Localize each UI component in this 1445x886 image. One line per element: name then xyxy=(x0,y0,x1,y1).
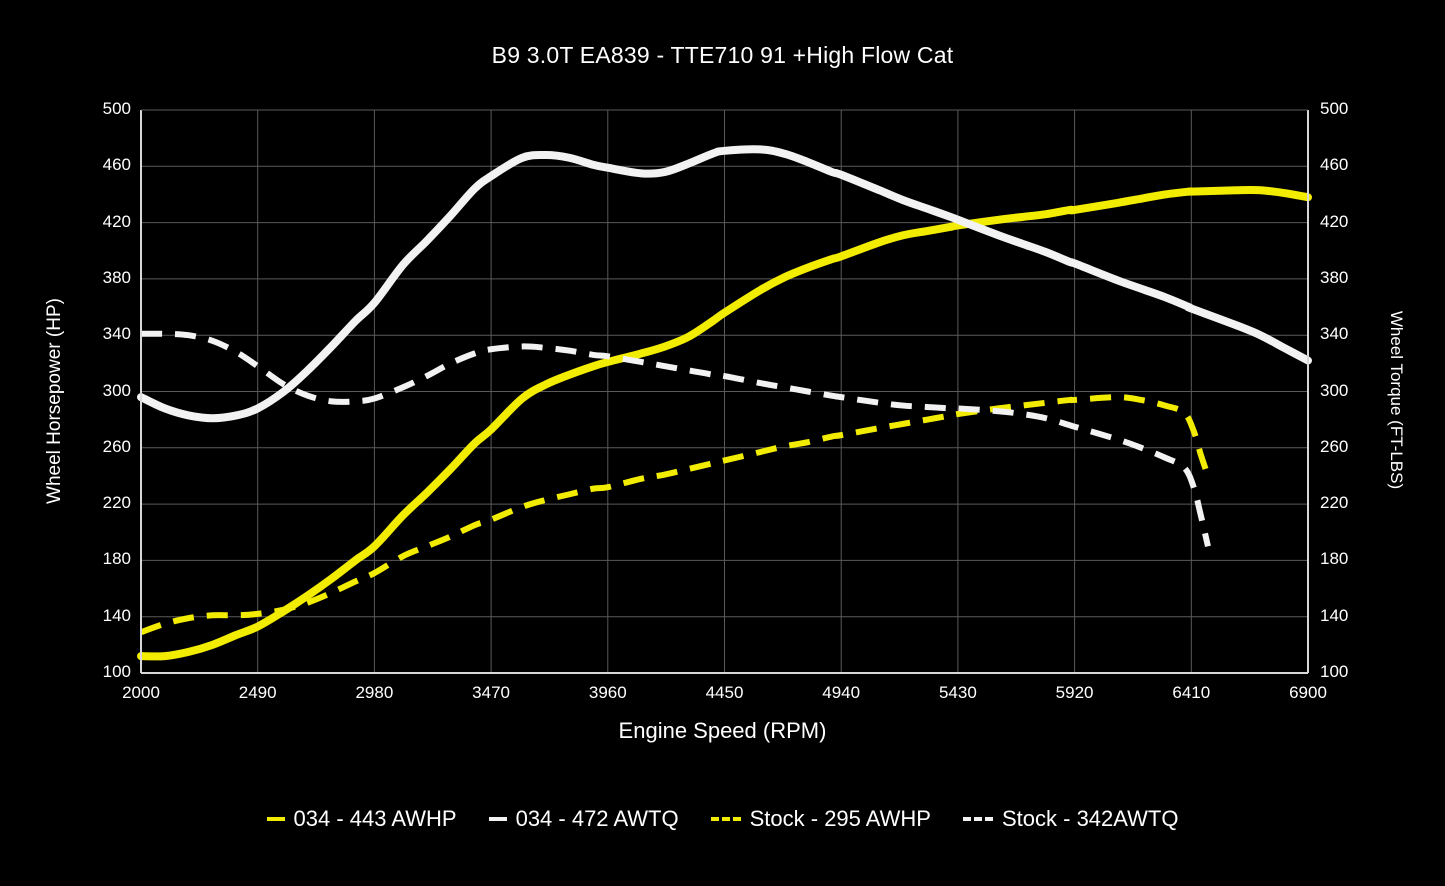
x-axis-tick-label: 6900 xyxy=(1263,683,1353,703)
legend-item-label: 034 - 443 AWHP xyxy=(294,806,457,832)
y-axis-left-tick-label: 500 xyxy=(67,99,131,119)
legend-line-swatch-icon xyxy=(963,817,993,821)
y-axis-left-tick-label: 140 xyxy=(67,606,131,626)
y-axis-left-tick-label: 180 xyxy=(67,549,131,569)
y-axis-right-tick-label: 300 xyxy=(1320,381,1384,401)
y-axis-right-tick-label: 140 xyxy=(1320,606,1384,626)
x-axis-tick-label: 5430 xyxy=(913,683,1003,703)
legend-line-swatch-icon xyxy=(711,817,741,821)
x-axis-tick-label: 3470 xyxy=(446,683,536,703)
x-axis-tick-label: 5920 xyxy=(1030,683,1120,703)
chart-plot-area xyxy=(0,0,1445,886)
y-axis-right-tick-label: 100 xyxy=(1320,662,1384,682)
chart-legend: 034 - 443 AWHP034 - 472 AWTQStock - 295 … xyxy=(0,806,1445,832)
y-axis-right-tick-label: 220 xyxy=(1320,493,1384,513)
legend-item-3[interactable]: Stock - 342AWTQ xyxy=(963,806,1178,832)
y-axis-left-tick-label: 340 xyxy=(67,324,131,344)
y-axis-left-tick-label: 460 xyxy=(67,155,131,175)
y-axis-right-tick-label: 340 xyxy=(1320,324,1384,344)
legend-item-0[interactable]: 034 - 443 AWHP xyxy=(267,806,457,832)
legend-item-label: 034 - 472 AWTQ xyxy=(516,806,679,832)
y-axis-right-tick-label: 260 xyxy=(1320,437,1384,457)
series-line-3 xyxy=(141,334,1208,547)
legend-line-swatch-icon xyxy=(267,817,285,821)
legend-item-label: Stock - 342AWTQ xyxy=(1002,806,1178,832)
y-axis-right-tick-label: 460 xyxy=(1320,155,1384,175)
y-axis-left-tick-label: 220 xyxy=(67,493,131,513)
dyno-chart-page: B9 3.0T EA839 - TTE710 91 +High Flow Cat… xyxy=(0,0,1445,886)
y-axis-right-tick-label: 380 xyxy=(1320,268,1384,288)
x-axis-tick-label: 4450 xyxy=(680,683,770,703)
y-axis-left-tick-label: 300 xyxy=(67,381,131,401)
y-axis-right-tick-label: 420 xyxy=(1320,212,1384,232)
x-axis-tick-label: 2980 xyxy=(329,683,419,703)
legend-line-swatch-icon xyxy=(489,817,507,821)
y-axis-left-tick-label: 420 xyxy=(67,212,131,232)
x-axis-tick-label: 2490 xyxy=(213,683,303,703)
x-axis-tick-label: 6410 xyxy=(1146,683,1236,703)
x-axis-tick-label: 2000 xyxy=(96,683,186,703)
legend-item-2[interactable]: Stock - 295 AWHP xyxy=(711,806,931,832)
y-axis-left-tick-label: 260 xyxy=(67,437,131,457)
y-axis-right-tick-label: 180 xyxy=(1320,549,1384,569)
legend-item-1[interactable]: 034 - 472 AWTQ xyxy=(489,806,679,832)
y-axis-left-tick-label: 100 xyxy=(67,662,131,682)
x-axis-tick-label: 4940 xyxy=(796,683,886,703)
y-axis-right-tick-label: 500 xyxy=(1320,99,1384,119)
x-axis-tick-label: 3960 xyxy=(563,683,653,703)
y-axis-left-tick-label: 380 xyxy=(67,268,131,288)
legend-item-label: Stock - 295 AWHP xyxy=(750,806,931,832)
